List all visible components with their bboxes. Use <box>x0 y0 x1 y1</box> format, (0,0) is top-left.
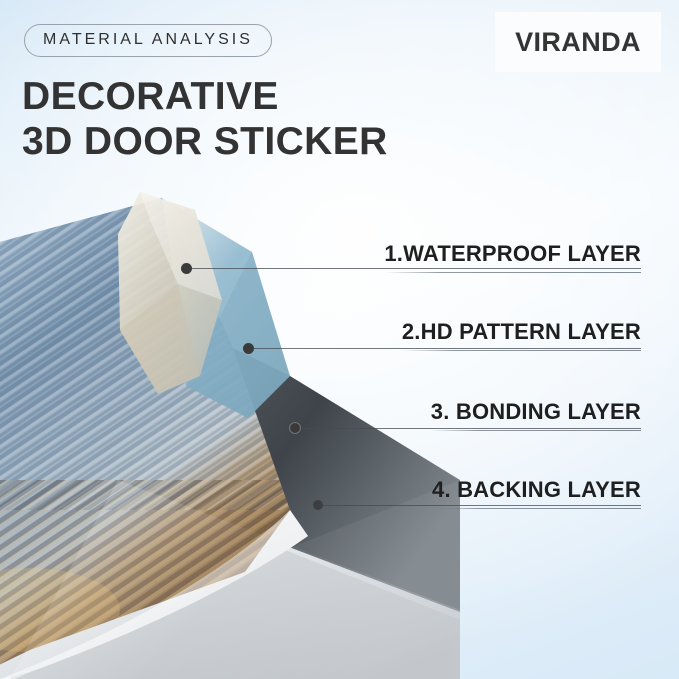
callout-rule-2 <box>402 350 641 351</box>
brand-name: VIRANDA <box>515 27 641 58</box>
callout-label-2-text: 2.HD PATTERN LAYER <box>402 320 641 344</box>
callout-leader-line-4 <box>323 505 641 506</box>
callout-dot-3 <box>290 423 300 433</box>
callout-rule-4 <box>432 508 641 509</box>
title-line-1: DECORATIVE <box>22 75 279 118</box>
brand-logo-box: VIRANDA <box>495 12 661 72</box>
poster-canvas: MATERIAL ANALYSIS DECORATIVE 3D DOOR STI… <box>0 0 679 679</box>
callout-label-3: 3. BONDING LAYER <box>431 400 641 431</box>
callout-dot-1 <box>181 263 192 274</box>
callout-dot-2 <box>243 343 254 354</box>
page-title: DECORATIVE 3D DOOR STICKER <box>22 74 388 164</box>
callout-leader-line-3 <box>300 428 641 429</box>
callout-label-2: 2.HD PATTERN LAYER <box>402 320 641 351</box>
title-line-2: 3D DOOR STICKER <box>22 119 388 164</box>
callout-label-4-text: 4. BACKING LAYER <box>432 478 641 502</box>
callout-leader-line-1 <box>192 268 641 269</box>
eyebrow-text: MATERIAL ANALYSIS <box>43 31 253 48</box>
callout-dot-4 <box>313 500 323 510</box>
eyebrow-pill: MATERIAL ANALYSIS <box>24 24 272 57</box>
callout-leader-line-2 <box>254 348 641 349</box>
callout-rule-3 <box>431 430 641 431</box>
callout-label-1-text: 1.WATERPROOF LAYER <box>384 242 641 266</box>
callout-label-3-text: 3. BONDING LAYER <box>431 400 641 424</box>
callout-rule-1 <box>384 272 641 273</box>
